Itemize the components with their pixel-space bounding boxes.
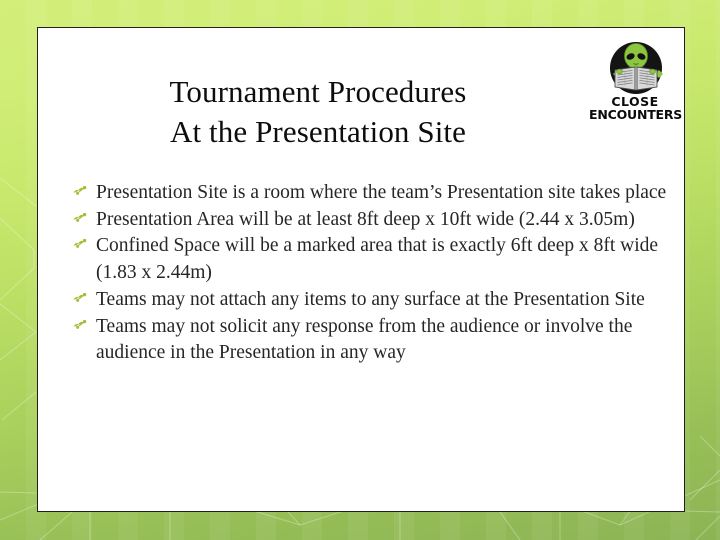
list-item: Teams may not solicit any response from … bbox=[68, 314, 668, 367]
list-item: Confined Space will be a marked area tha… bbox=[68, 233, 668, 286]
logo-text-line-2: ENCOUNTERS bbox=[589, 109, 681, 122]
green-fleuron-bullet-icon bbox=[71, 236, 91, 252]
green-fleuron-bullet-icon bbox=[71, 183, 91, 199]
alien-reading-newspaper-icon bbox=[607, 40, 665, 98]
green-fleuron-bullet-icon bbox=[71, 210, 91, 226]
list-item: Presentation Area will be at least 8ft d… bbox=[68, 207, 668, 234]
presentation-slide: Tournament Procedures At the Presentatio… bbox=[0, 0, 720, 540]
logo-wordmark: CLOSE ENCOUNTERS bbox=[589, 96, 681, 122]
list-item: Presentation Site is a room where the te… bbox=[68, 180, 668, 207]
green-fleuron-bullet-icon bbox=[71, 290, 91, 306]
list-item-label: Confined Space will be a marked area tha… bbox=[96, 233, 668, 286]
list-item-label: Presentation Area will be at least 8ft d… bbox=[96, 207, 668, 234]
bullet-list: Presentation Site is a room where the te… bbox=[68, 180, 668, 367]
list-item: Teams may not attach any items to any su… bbox=[68, 287, 668, 314]
slide-content-panel: Tournament Procedures At the Presentatio… bbox=[37, 27, 685, 512]
list-item-label: Teams may not solicit any response from … bbox=[96, 314, 668, 367]
list-item-label: Teams may not attach any items to any su… bbox=[96, 287, 668, 314]
page-title: Tournament Procedures At the Presentatio… bbox=[38, 72, 598, 151]
green-fleuron-bullet-icon bbox=[71, 317, 91, 333]
title-line-2: At the Presentation Site bbox=[38, 112, 598, 152]
close-encounters-logo: CLOSE ENCOUNTERS bbox=[589, 40, 681, 140]
title-line-1: Tournament Procedures bbox=[38, 72, 598, 112]
list-item-label: Presentation Site is a room where the te… bbox=[96, 180, 668, 207]
